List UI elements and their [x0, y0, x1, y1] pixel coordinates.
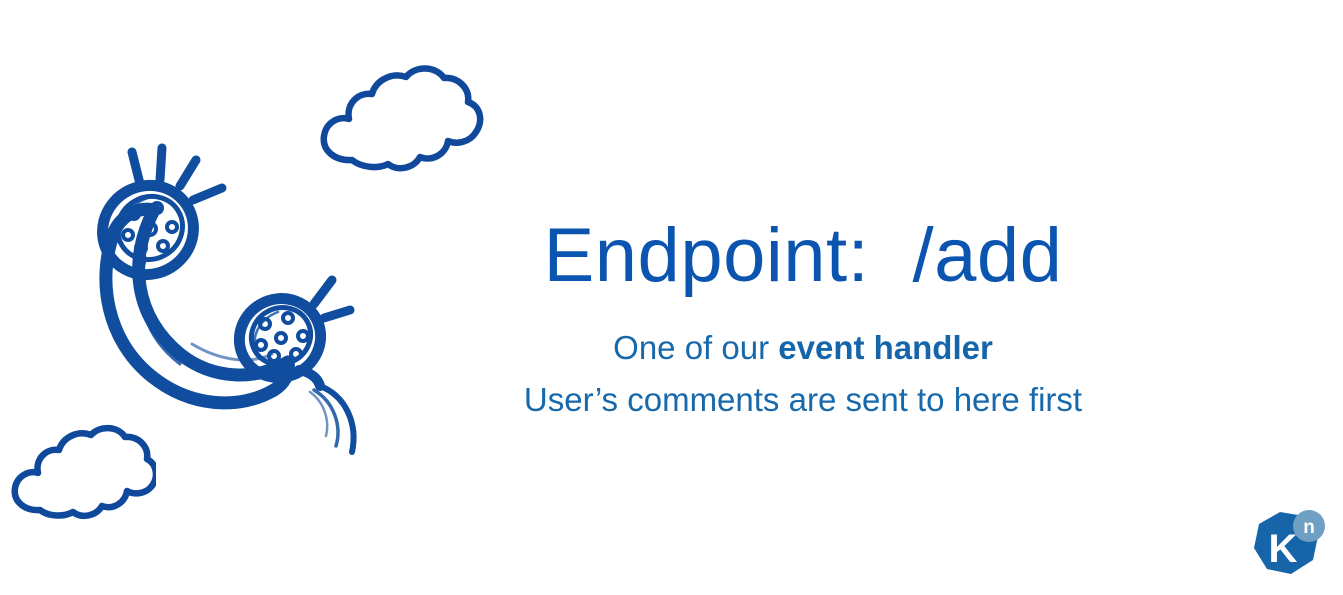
cloud-doodle-top — [316, 62, 484, 180]
cloud-doodle-bottom — [8, 424, 156, 528]
logo-letter-n: n — [1303, 517, 1315, 538]
subtitle-line-1: One of our event handler — [470, 322, 1136, 374]
logo-letter-k: K — [1269, 527, 1298, 571]
slide-canvas: Endpoint: /add One of our event handler … — [0, 0, 1343, 595]
subtitle-line-1-emphasis: event handler — [778, 329, 993, 366]
subtitle-line-1-prefix: One of our — [613, 329, 778, 366]
subtitle-block: One of our event handler User’s comments… — [470, 322, 1136, 426]
knative-logo: K n — [1246, 506, 1328, 582]
page-title: Endpoint: /add — [470, 218, 1136, 294]
subtitle-line-2: User’s comments are sent to here first — [470, 374, 1136, 426]
slide-text-block: Endpoint: /add One of our event handler … — [470, 218, 1136, 426]
telephone-handset-icon — [62, 140, 382, 460]
